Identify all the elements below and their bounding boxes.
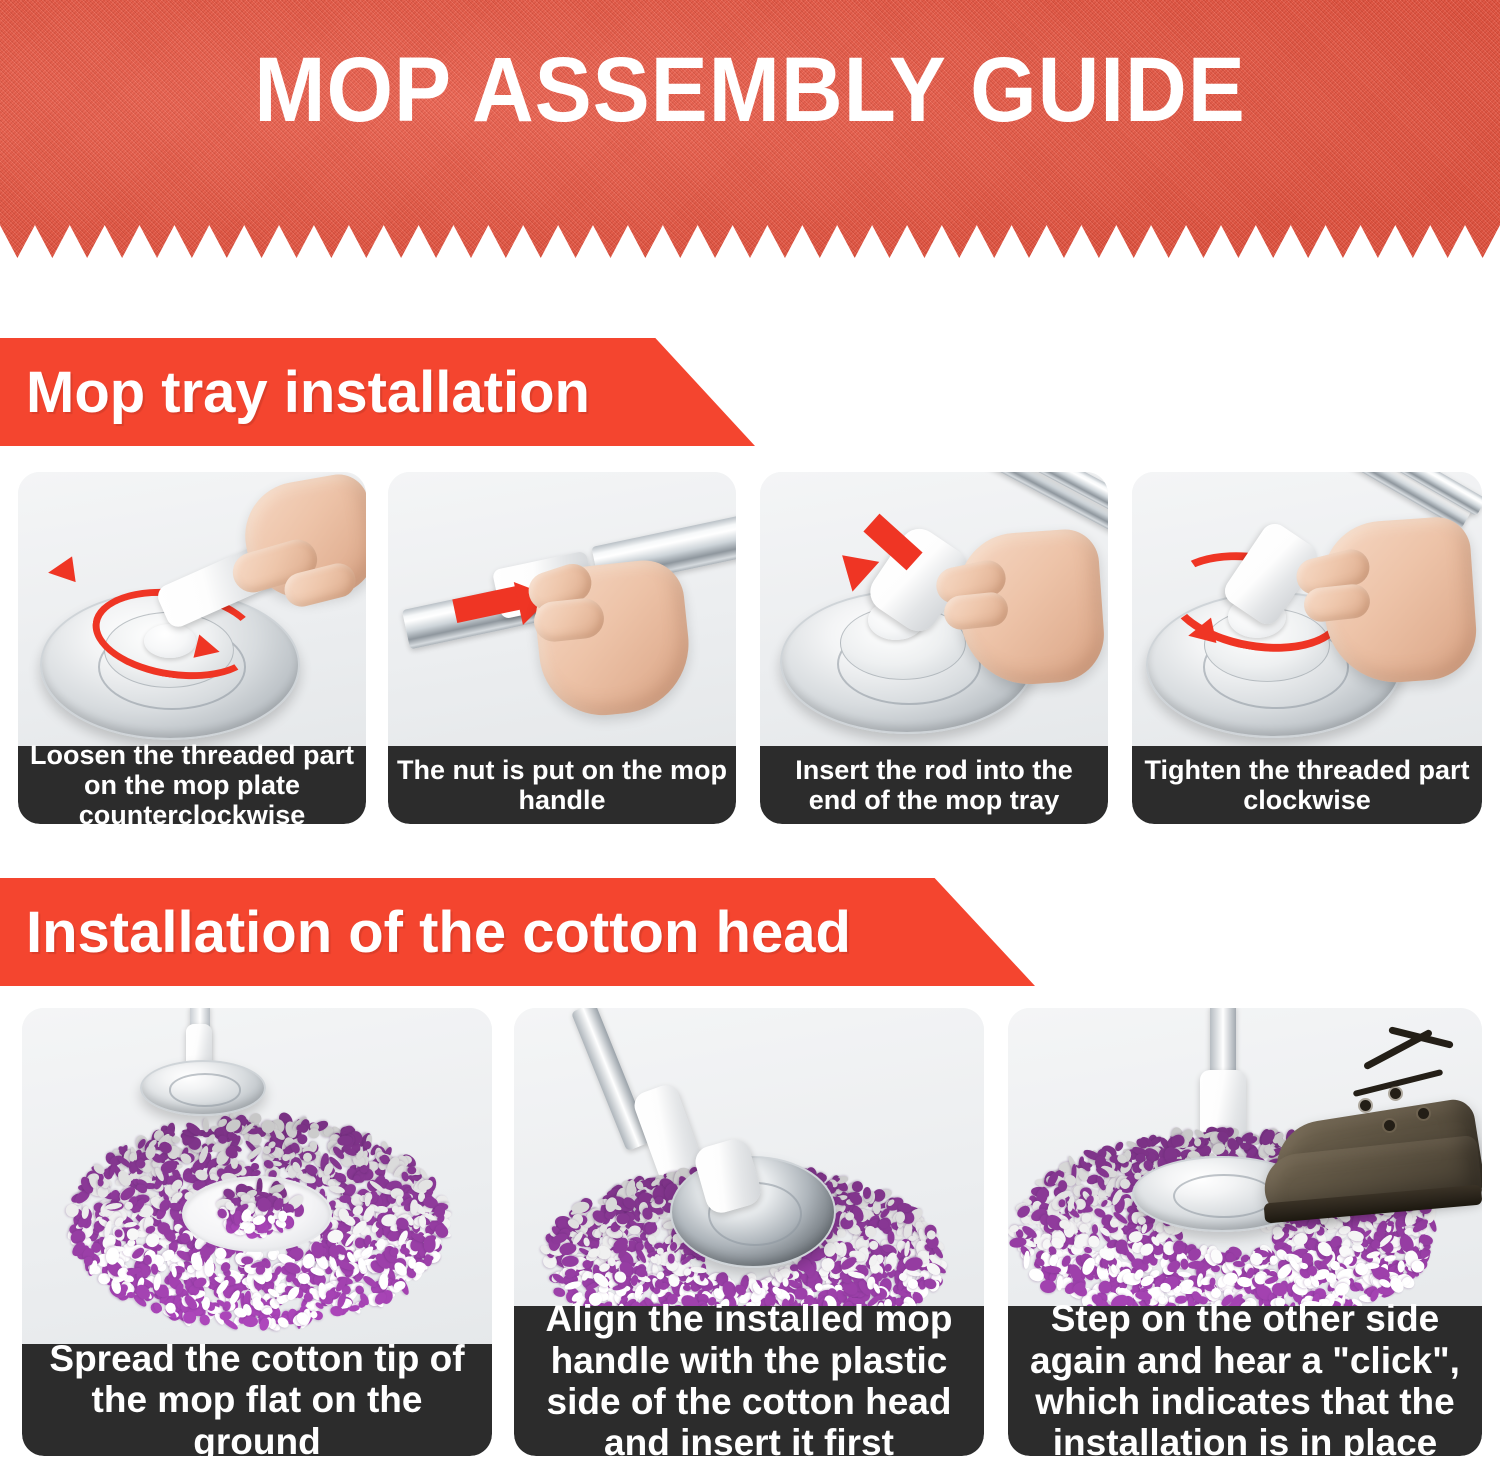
section-title-text: Mop tray installation <box>26 359 590 426</box>
mop-strand <box>339 1195 351 1203</box>
rotation-arrow-head-left-icon <box>46 556 75 585</box>
page-title: MOP ASSEMBLY GUIDE <box>53 42 1448 139</box>
step-caption-4: Tighten the threaded part clockwise <box>1132 746 1482 824</box>
step-panel-2: The nut is put on the mop handle <box>388 472 736 824</box>
mop-strand <box>241 1256 253 1265</box>
mop-strand <box>182 1311 196 1324</box>
mop-strand <box>1209 1277 1216 1286</box>
cotton-step-panel-1: Spread the cotton tip of the mop flat on… <box>22 1008 492 1456</box>
section-header-installation-of-the-cotton-head: Installation of the cotton head <box>0 878 1035 986</box>
mop-strand <box>407 1166 416 1174</box>
section-header-mop-tray-installation: Mop tray installation <box>0 338 755 446</box>
mop-strand <box>127 1292 135 1298</box>
step-caption-2: The nut is put on the mop handle <box>388 746 736 824</box>
mop-strand <box>410 1199 418 1214</box>
mop-strand <box>423 1236 436 1253</box>
mop-strand <box>309 1128 320 1139</box>
boot-eyelet-2 <box>1390 1088 1401 1099</box>
step-panel-1: Loosen the threaded part on the mop plat… <box>18 472 366 824</box>
mop-strand <box>204 1260 215 1277</box>
mop-strand <box>888 1231 895 1244</box>
step-panel-3: Insert the rod into the end of the mop t… <box>760 472 1108 824</box>
mop-strand <box>329 1244 340 1257</box>
step-caption-1: Loosen the threaded part on the mop plat… <box>18 746 366 824</box>
mop-strand <box>1308 1266 1317 1276</box>
mop-handle-rod <box>571 1008 651 1151</box>
mop-strand <box>1091 1224 1098 1234</box>
cotton-step-caption-1: Spread the cotton tip of the mop flat on… <box>22 1344 492 1456</box>
mop-strand <box>1024 1251 1031 1269</box>
mop-strand <box>257 1198 270 1212</box>
boot-eyelet-4 <box>1418 1108 1429 1119</box>
header-banner: MOP ASSEMBLY GUIDE <box>0 0 1500 258</box>
mop-strand <box>243 1315 258 1327</box>
cotton-step-caption-3: Step on the other side again and hear a … <box>1008 1306 1482 1456</box>
mop-strand <box>1056 1276 1063 1292</box>
cotton-step-panel-3: Step on the other side again and hear a … <box>1008 1008 1482 1456</box>
mop-strand <box>1087 1234 1101 1248</box>
rotation-arrow-head-left-icon <box>1186 618 1217 649</box>
cotton-step-panel-2: Align the installed mop handle with the … <box>514 1008 984 1456</box>
boot-eyelet-1 <box>1360 1100 1371 1111</box>
cotton-mop-inner-fringe <box>218 1186 300 1232</box>
boot-eyelet-3 <box>1384 1120 1395 1131</box>
mop-strand <box>1194 1138 1201 1146</box>
section-title-text: Installation of the cotton head <box>26 899 851 966</box>
mop-strand <box>837 1229 846 1238</box>
mop-strand <box>278 1211 287 1223</box>
mop-strand <box>172 1135 181 1143</box>
cotton-step-caption-2: Align the installed mop handle with the … <box>514 1306 984 1456</box>
step-panel-4: Tighten the threaded part clockwise <box>1132 472 1482 824</box>
mop-plate <box>140 1060 266 1116</box>
mop-strand <box>310 1310 318 1318</box>
mop-strand <box>84 1256 93 1266</box>
mop-strand <box>1411 1261 1424 1273</box>
mop-strand <box>202 1118 209 1132</box>
mop-strand <box>126 1228 138 1240</box>
step-caption-3: Insert the rod into the end of the mop t… <box>760 746 1108 824</box>
mop-strand <box>821 1257 835 1271</box>
